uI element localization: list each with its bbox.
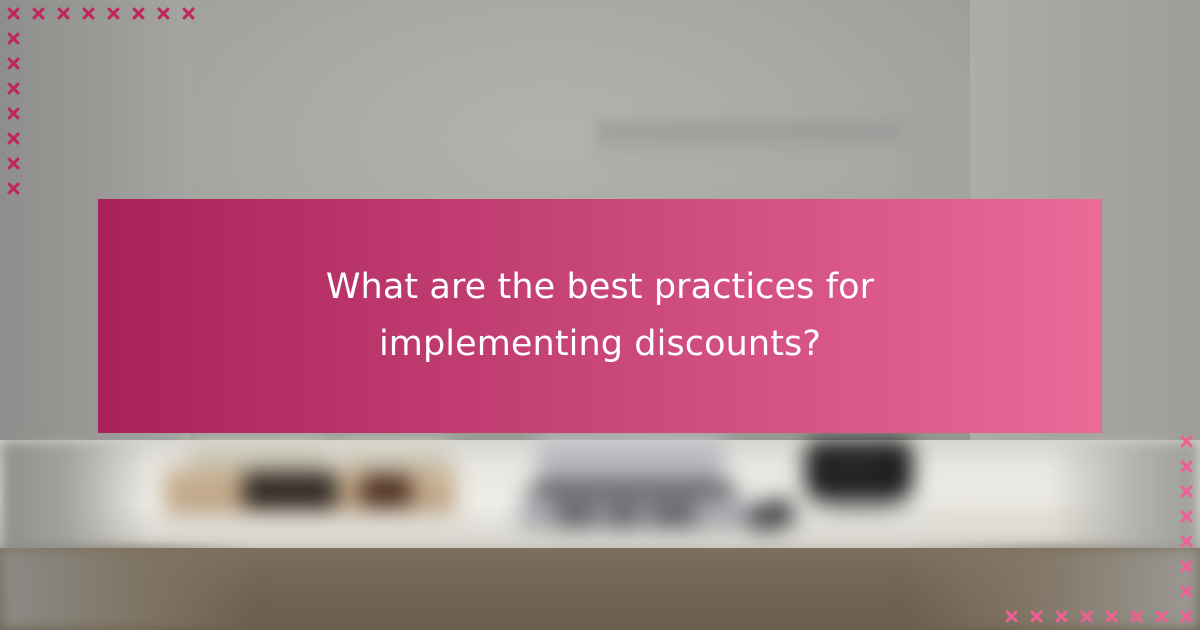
x-pattern-spacer xyxy=(131,106,146,121)
x-mark-icon xyxy=(1029,609,1044,624)
x-pattern-spacer xyxy=(1004,534,1019,549)
x-pattern-spacer xyxy=(1104,534,1119,549)
x-mark-icon xyxy=(1129,609,1144,624)
x-pattern-spacer xyxy=(156,31,171,46)
x-pattern-spacer xyxy=(1129,559,1144,574)
x-pattern-spacer xyxy=(1129,584,1144,599)
x-pattern-spacer xyxy=(1004,434,1019,449)
x-pattern-spacer xyxy=(1029,434,1044,449)
x-mark-icon xyxy=(6,131,21,146)
x-mark-icon xyxy=(1179,509,1194,524)
x-pattern-spacer xyxy=(56,181,71,196)
x-mark-icon xyxy=(6,81,21,96)
x-mark-icon xyxy=(1079,609,1094,624)
x-pattern-spacer xyxy=(56,81,71,96)
x-mark-icon xyxy=(1179,609,1194,624)
x-pattern-spacer xyxy=(31,181,46,196)
x-pattern-spacer xyxy=(1054,459,1069,474)
x-pattern-spacer xyxy=(1154,534,1169,549)
x-pattern-spacer xyxy=(56,106,71,121)
x-pattern-spacer xyxy=(1154,584,1169,599)
x-pattern-spacer xyxy=(1079,534,1094,549)
x-pattern-spacer xyxy=(106,81,121,96)
background-laptop-screen xyxy=(538,436,724,488)
x-pattern-spacer xyxy=(31,106,46,121)
x-mark-icon xyxy=(6,6,21,21)
x-pattern-spacer xyxy=(131,56,146,71)
x-pattern-spacer xyxy=(31,56,46,71)
x-pattern-spacer xyxy=(156,156,171,171)
x-pattern-spacer xyxy=(181,131,196,146)
x-pattern-spacer xyxy=(181,81,196,96)
x-mark-icon xyxy=(1179,584,1194,599)
x-pattern-spacer xyxy=(1129,459,1144,474)
x-pattern-spacer xyxy=(1054,584,1069,599)
decoration-x-pattern-bottom-right xyxy=(1004,434,1194,624)
x-mark-icon xyxy=(6,106,21,121)
x-pattern-spacer xyxy=(106,131,121,146)
background-camera-shadow xyxy=(780,494,940,516)
x-pattern-spacer xyxy=(31,131,46,146)
background-desk-edge-left-shadow xyxy=(0,548,260,630)
x-pattern-spacer xyxy=(1129,484,1144,499)
x-pattern-spacer xyxy=(181,31,196,46)
background-laptop-key xyxy=(650,503,696,527)
x-pattern-spacer xyxy=(1079,509,1094,524)
x-pattern-spacer xyxy=(1079,484,1094,499)
x-pattern-spacer xyxy=(106,106,121,121)
x-pattern-spacer xyxy=(1054,509,1069,524)
x-mark-icon xyxy=(6,31,21,46)
x-pattern-spacer xyxy=(1029,559,1044,574)
x-pattern-spacer xyxy=(1029,484,1044,499)
x-mark-icon xyxy=(1004,609,1019,624)
x-pattern-spacer xyxy=(131,81,146,96)
x-pattern-spacer xyxy=(1004,559,1019,574)
x-pattern-spacer xyxy=(1054,484,1069,499)
headline-banner: What are the best practices for implemen… xyxy=(98,199,1102,433)
x-pattern-spacer xyxy=(31,31,46,46)
x-mark-icon xyxy=(1104,609,1119,624)
x-mark-icon xyxy=(131,6,146,21)
x-pattern-spacer xyxy=(81,106,96,121)
x-mark-icon xyxy=(6,181,21,196)
x-pattern-spacer xyxy=(1029,509,1044,524)
x-pattern-spacer xyxy=(1104,459,1119,474)
background-laptop-key xyxy=(556,503,596,527)
x-pattern-spacer xyxy=(56,156,71,171)
x-pattern-spacer xyxy=(1029,534,1044,549)
x-pattern-spacer xyxy=(1079,584,1094,599)
x-pattern-spacer xyxy=(1004,509,1019,524)
x-mark-icon xyxy=(1179,434,1194,449)
x-pattern-spacer xyxy=(181,106,196,121)
page-title: What are the best practices for implemen… xyxy=(205,259,995,372)
x-pattern-spacer xyxy=(106,56,121,71)
x-pattern-spacer xyxy=(1104,434,1119,449)
x-pattern-spacer xyxy=(1054,434,1069,449)
x-mark-icon xyxy=(31,6,46,21)
x-pattern-spacer xyxy=(56,131,71,146)
x-pattern-spacer xyxy=(1004,584,1019,599)
x-mark-icon xyxy=(6,56,21,71)
x-pattern-spacer xyxy=(1154,484,1169,499)
x-mark-icon xyxy=(81,6,96,21)
x-mark-icon xyxy=(106,6,121,21)
x-pattern-spacer xyxy=(1004,484,1019,499)
x-pattern-spacer xyxy=(131,156,146,171)
x-mark-icon xyxy=(1179,484,1194,499)
x-pattern-spacer xyxy=(1104,584,1119,599)
x-pattern-spacer xyxy=(131,181,146,196)
x-pattern-spacer xyxy=(1104,484,1119,499)
background-desk-left-shadow xyxy=(0,440,150,560)
x-mark-icon xyxy=(1179,559,1194,574)
background-camera xyxy=(805,440,913,502)
x-mark-icon xyxy=(156,6,171,21)
x-pattern-spacer xyxy=(181,56,196,71)
x-pattern-spacer xyxy=(31,156,46,171)
x-pattern-spacer xyxy=(1079,459,1094,474)
x-pattern-spacer xyxy=(1154,434,1169,449)
x-pattern-spacer xyxy=(56,31,71,46)
x-pattern-spacer xyxy=(1129,509,1144,524)
x-pattern-spacer xyxy=(1079,434,1094,449)
x-pattern-spacer xyxy=(1029,584,1044,599)
x-pattern-spacer xyxy=(106,156,121,171)
x-mark-icon xyxy=(181,6,196,21)
x-pattern-spacer xyxy=(156,131,171,146)
x-pattern-spacer xyxy=(1154,509,1169,524)
x-pattern-spacer xyxy=(81,31,96,46)
x-pattern-spacer xyxy=(1029,459,1044,474)
x-pattern-spacer xyxy=(156,106,171,121)
x-pattern-spacer xyxy=(1079,559,1094,574)
x-pattern-spacer xyxy=(1129,534,1144,549)
x-pattern-spacer xyxy=(131,131,146,146)
x-pattern-spacer xyxy=(1104,559,1119,574)
x-pattern-spacer xyxy=(1054,534,1069,549)
x-pattern-spacer xyxy=(1129,434,1144,449)
x-pattern-spacer xyxy=(131,31,146,46)
x-pattern-spacer xyxy=(81,56,96,71)
x-pattern-spacer xyxy=(181,181,196,196)
x-pattern-spacer xyxy=(1104,509,1119,524)
x-mark-icon xyxy=(1179,459,1194,474)
x-pattern-spacer xyxy=(1154,559,1169,574)
x-pattern-spacer xyxy=(181,156,196,171)
x-pattern-spacer xyxy=(81,156,96,171)
x-pattern-spacer xyxy=(31,81,46,96)
x-pattern-spacer xyxy=(1054,559,1069,574)
x-pattern-spacer xyxy=(1154,459,1169,474)
x-pattern-spacer xyxy=(81,131,96,146)
x-pattern-spacer xyxy=(156,181,171,196)
x-mark-icon xyxy=(1179,534,1194,549)
decoration-x-pattern-top-left xyxy=(6,6,196,196)
x-mark-icon xyxy=(56,6,71,21)
share-card: What are the best practices for implemen… xyxy=(0,0,1200,630)
x-pattern-spacer xyxy=(106,31,121,46)
x-mark-icon xyxy=(1054,609,1069,624)
x-mark-icon xyxy=(1154,609,1169,624)
background-dark-item xyxy=(243,472,337,508)
x-pattern-spacer xyxy=(81,81,96,96)
x-pattern-spacer xyxy=(156,81,171,96)
x-pattern-spacer xyxy=(156,56,171,71)
x-pattern-spacer xyxy=(106,181,121,196)
background-brown-item xyxy=(360,474,412,506)
x-pattern-spacer xyxy=(1004,459,1019,474)
x-pattern-spacer xyxy=(56,56,71,71)
x-mark-icon xyxy=(6,156,21,171)
x-pattern-spacer xyxy=(81,181,96,196)
background-laptop-key xyxy=(606,503,640,527)
